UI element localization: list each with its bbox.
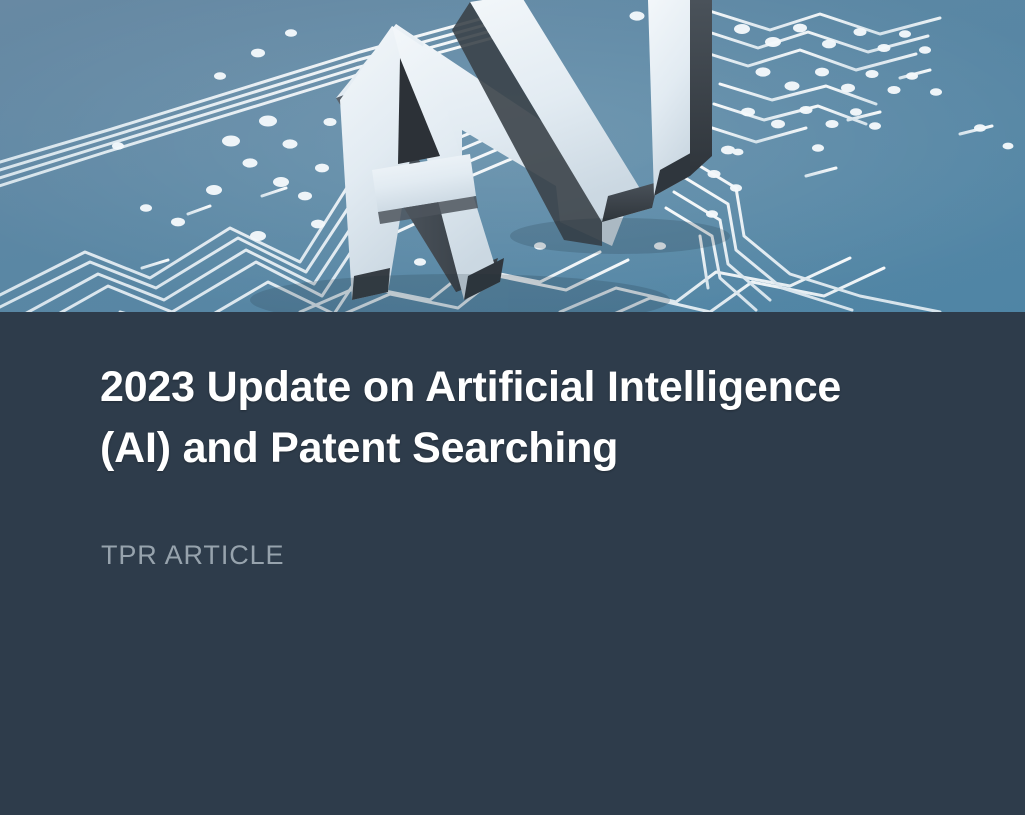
title-panel: 2023 Update on Artificial Intelligence (… [0, 312, 1025, 815]
article-cover-page: 2023 Update on Artificial Intelligence (… [0, 0, 1025, 815]
hero-banner [0, 0, 1025, 312]
page-title: 2023 Update on Artificial Intelligence (… [100, 357, 900, 479]
ai-circuit-board-illustration [0, 0, 1025, 312]
document-type-label: TPR ARTICLE [101, 540, 284, 571]
